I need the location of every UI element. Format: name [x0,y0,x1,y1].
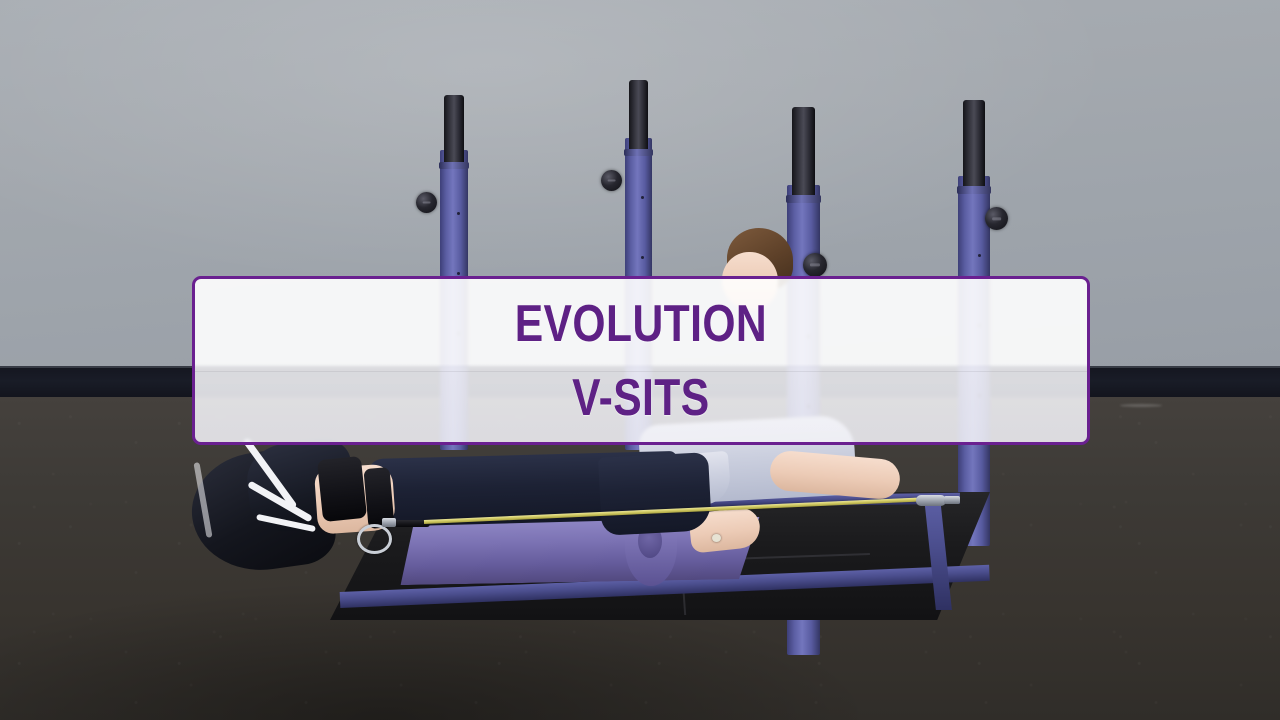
title-line-secondary: V-SITS [572,372,710,424]
person-hip [598,452,712,536]
video-title-card: EVOLUTION V-SITS [192,276,1090,445]
post-collar [624,149,653,156]
video-frame: EVOLUTION V-SITS [0,0,1280,720]
rack-adjust-knob[interactable] [803,253,827,277]
band-carabiner-rack[interactable] [916,495,946,506]
post-extension [629,80,648,152]
band-anchor-pin[interactable] [944,496,960,504]
post-collar [439,162,469,169]
rack-adjust-knob[interactable] [985,207,1008,230]
post-extension [444,95,464,165]
post-extension [792,107,815,199]
floor-scuff-mark [1120,404,1162,407]
person-ring [712,534,721,542]
band-carabiner-ankle[interactable] [382,518,396,527]
post-collar [786,195,821,203]
rack-adjust-knob[interactable] [416,192,437,213]
ankle-strap-upper [317,456,367,522]
ankle-strap-d-ring [357,524,392,554]
post-pinhole [457,272,460,275]
post-extension [963,100,985,190]
post-pinhole [641,196,644,199]
post-pinhole [978,254,981,257]
title-line-primary: EVOLUTION [515,298,767,350]
rack-adjust-knob[interactable] [601,170,622,191]
post-pinhole [457,212,460,215]
post-collar [957,186,991,194]
post-pinhole [641,256,644,259]
